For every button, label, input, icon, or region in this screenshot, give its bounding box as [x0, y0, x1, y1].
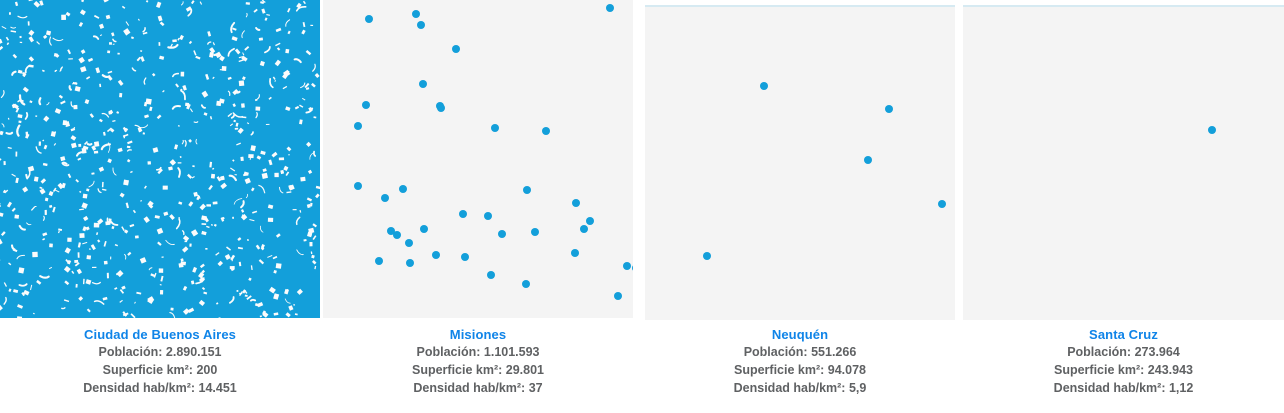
stat-superficie-label: Superficie km²:	[734, 363, 824, 377]
panel-neuquen: Neuquén Población: 551.266 Superficie km…	[645, 0, 955, 413]
stat-poblacion: Población: 2.890.151	[0, 343, 320, 361]
scatter-canvas-misiones	[323, 0, 633, 318]
stat-superficie-value: 29.801	[506, 363, 544, 377]
stat-superficie-value: 243.943	[1148, 363, 1193, 377]
stat-poblacion-value: 2.890.151	[166, 345, 222, 359]
stat-poblacion: Población: 551.266	[645, 343, 955, 361]
scatter-plot-santa-cruz	[963, 5, 1284, 320]
stat-densidad: Densidad hab/km²: 37	[323, 379, 633, 397]
caption-ciudad-de-buenos-aires: Ciudad de Buenos Aires Población: 2.890.…	[0, 326, 320, 397]
stat-superficie-value: 94.078	[828, 363, 866, 377]
stat-superficie-label: Superficie km²:	[103, 363, 193, 377]
stat-superficie-label: Superficie km²:	[1054, 363, 1144, 377]
stat-densidad-label: Densidad hab/km²:	[734, 381, 846, 395]
stat-poblacion-label: Población:	[744, 345, 808, 359]
stat-poblacion-value: 1.101.593	[484, 345, 540, 359]
stat-poblacion: Población: 1.101.593	[323, 343, 633, 361]
panel-misiones: Misiones Población: 1.101.593 Superficie…	[323, 0, 633, 413]
scatter-canvas-santa-cruz	[963, 7, 1284, 318]
scatter-plot-misiones	[323, 0, 633, 318]
stat-poblacion: Población: 273.964	[963, 343, 1284, 361]
stat-poblacion-label: Población:	[99, 345, 163, 359]
province-name: Santa Cruz	[963, 326, 1284, 343]
stat-poblacion-value: 273.964	[1135, 345, 1180, 359]
stat-densidad-value: 5,9	[849, 381, 866, 395]
stat-superficie-label: Superficie km²:	[412, 363, 502, 377]
stat-densidad-value: 1,12	[1169, 381, 1193, 395]
stat-densidad: Densidad hab/km²: 1,12	[963, 379, 1284, 397]
caption-santa-cruz: Santa Cruz Población: 273.964 Superficie…	[963, 326, 1284, 397]
panel-santa-cruz: Santa Cruz Población: 273.964 Superficie…	[963, 0, 1284, 413]
panel-ciudad-de-buenos-aires: Ciudad de Buenos Aires Población: 2.890.…	[0, 0, 320, 413]
stat-densidad-label: Densidad hab/km²:	[1054, 381, 1166, 395]
stat-densidad: Densidad hab/km²: 14.451	[0, 379, 320, 397]
caption-misiones: Misiones Población: 1.101.593 Superficie…	[323, 326, 633, 397]
caption-neuquen: Neuquén Población: 551.266 Superficie km…	[645, 326, 955, 397]
stat-poblacion-label: Población:	[417, 345, 481, 359]
stat-densidad: Densidad hab/km²: 5,9	[645, 379, 955, 397]
stat-densidad-value: 37	[529, 381, 543, 395]
province-name: Misiones	[323, 326, 633, 343]
stat-superficie-value: 200	[196, 363, 217, 377]
stat-poblacion-value: 551.266	[811, 345, 856, 359]
province-density-chart: Ciudad de Buenos Aires Población: 2.890.…	[0, 0, 1284, 413]
stat-superficie: Superficie km²: 243.943	[963, 361, 1284, 379]
stat-superficie: Superficie km²: 200	[0, 361, 320, 379]
province-name: Neuquén	[645, 326, 955, 343]
stat-superficie: Superficie km²: 29.801	[323, 361, 633, 379]
stat-poblacion-label: Población:	[1067, 345, 1131, 359]
scatter-plot-ciudad-de-buenos-aires	[0, 0, 320, 318]
scatter-canvas-saturated	[0, 0, 320, 318]
scatter-plot-neuquen	[645, 5, 955, 320]
scatter-canvas-neuquen	[645, 7, 955, 318]
stat-superficie: Superficie km²: 94.078	[645, 361, 955, 379]
stat-densidad-label: Densidad hab/km²:	[413, 381, 525, 395]
stat-densidad-label: Densidad hab/km²:	[83, 381, 195, 395]
stat-densidad-value: 14.451	[199, 381, 237, 395]
province-name: Ciudad de Buenos Aires	[0, 326, 320, 343]
